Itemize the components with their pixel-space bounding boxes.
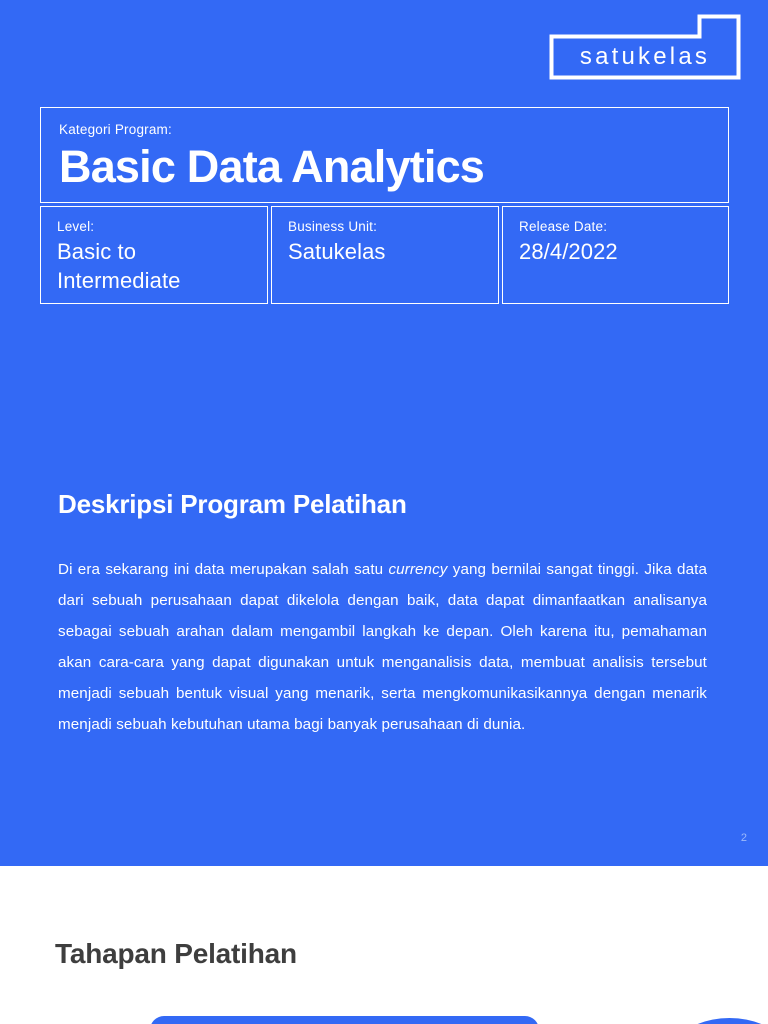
logo-wordmark: satukelas — [563, 45, 727, 69]
meta-cell-release-date: Release Date: 28/4/2022 — [502, 206, 729, 304]
meta-label-business-unit: Business Unit: — [288, 219, 482, 236]
meta-label-level: Level: — [57, 219, 251, 236]
category-label: Kategori Program: — [59, 122, 710, 139]
slide-page-2: satukelas Kategori Program: Basic Data A… — [0, 0, 768, 866]
description-paragraph: Di era sekarang ini data merupakan salah… — [58, 554, 707, 740]
slide-page-3: Tahapan Pelatihan — [0, 866, 768, 1024]
program-meta-row: Level: Basic to Intermediate Business Un… — [40, 206, 729, 304]
description-text-part2: yang bernilai sangat tinggi. Jika data d… — [58, 561, 707, 733]
meta-value-release-date: 28/4/2022 — [519, 237, 712, 266]
satukelas-logo: satukelas — [549, 14, 741, 80]
stage-circle-shape — [642, 1018, 768, 1024]
description-heading: Deskripsi Program Pelatihan — [58, 489, 407, 520]
meta-cell-level: Level: Basic to Intermediate — [40, 206, 268, 304]
program-title-box: Kategori Program: Basic Data Analytics — [40, 107, 729, 203]
meta-cell-business-unit: Business Unit: Satukelas — [271, 206, 499, 304]
page-title: Basic Data Analytics — [59, 143, 710, 192]
description-italic-term: currency — [388, 561, 447, 578]
meta-value-level: Basic to Intermediate — [57, 237, 251, 295]
meta-label-release-date: Release Date: — [519, 219, 712, 236]
pdf-page-viewer[interactable]: satukelas Kategori Program: Basic Data A… — [0, 0, 768, 1024]
description-text-part1: Di era sekarang ini data merupakan salah… — [58, 561, 388, 578]
page-number: 2 — [741, 832, 747, 844]
program-info-card: Kategori Program: Basic Data Analytics L… — [40, 107, 729, 304]
meta-value-business-unit: Satukelas — [288, 237, 482, 266]
stage-pill-shape — [150, 1016, 539, 1024]
training-stages-heading: Tahapan Pelatihan — [55, 938, 297, 970]
